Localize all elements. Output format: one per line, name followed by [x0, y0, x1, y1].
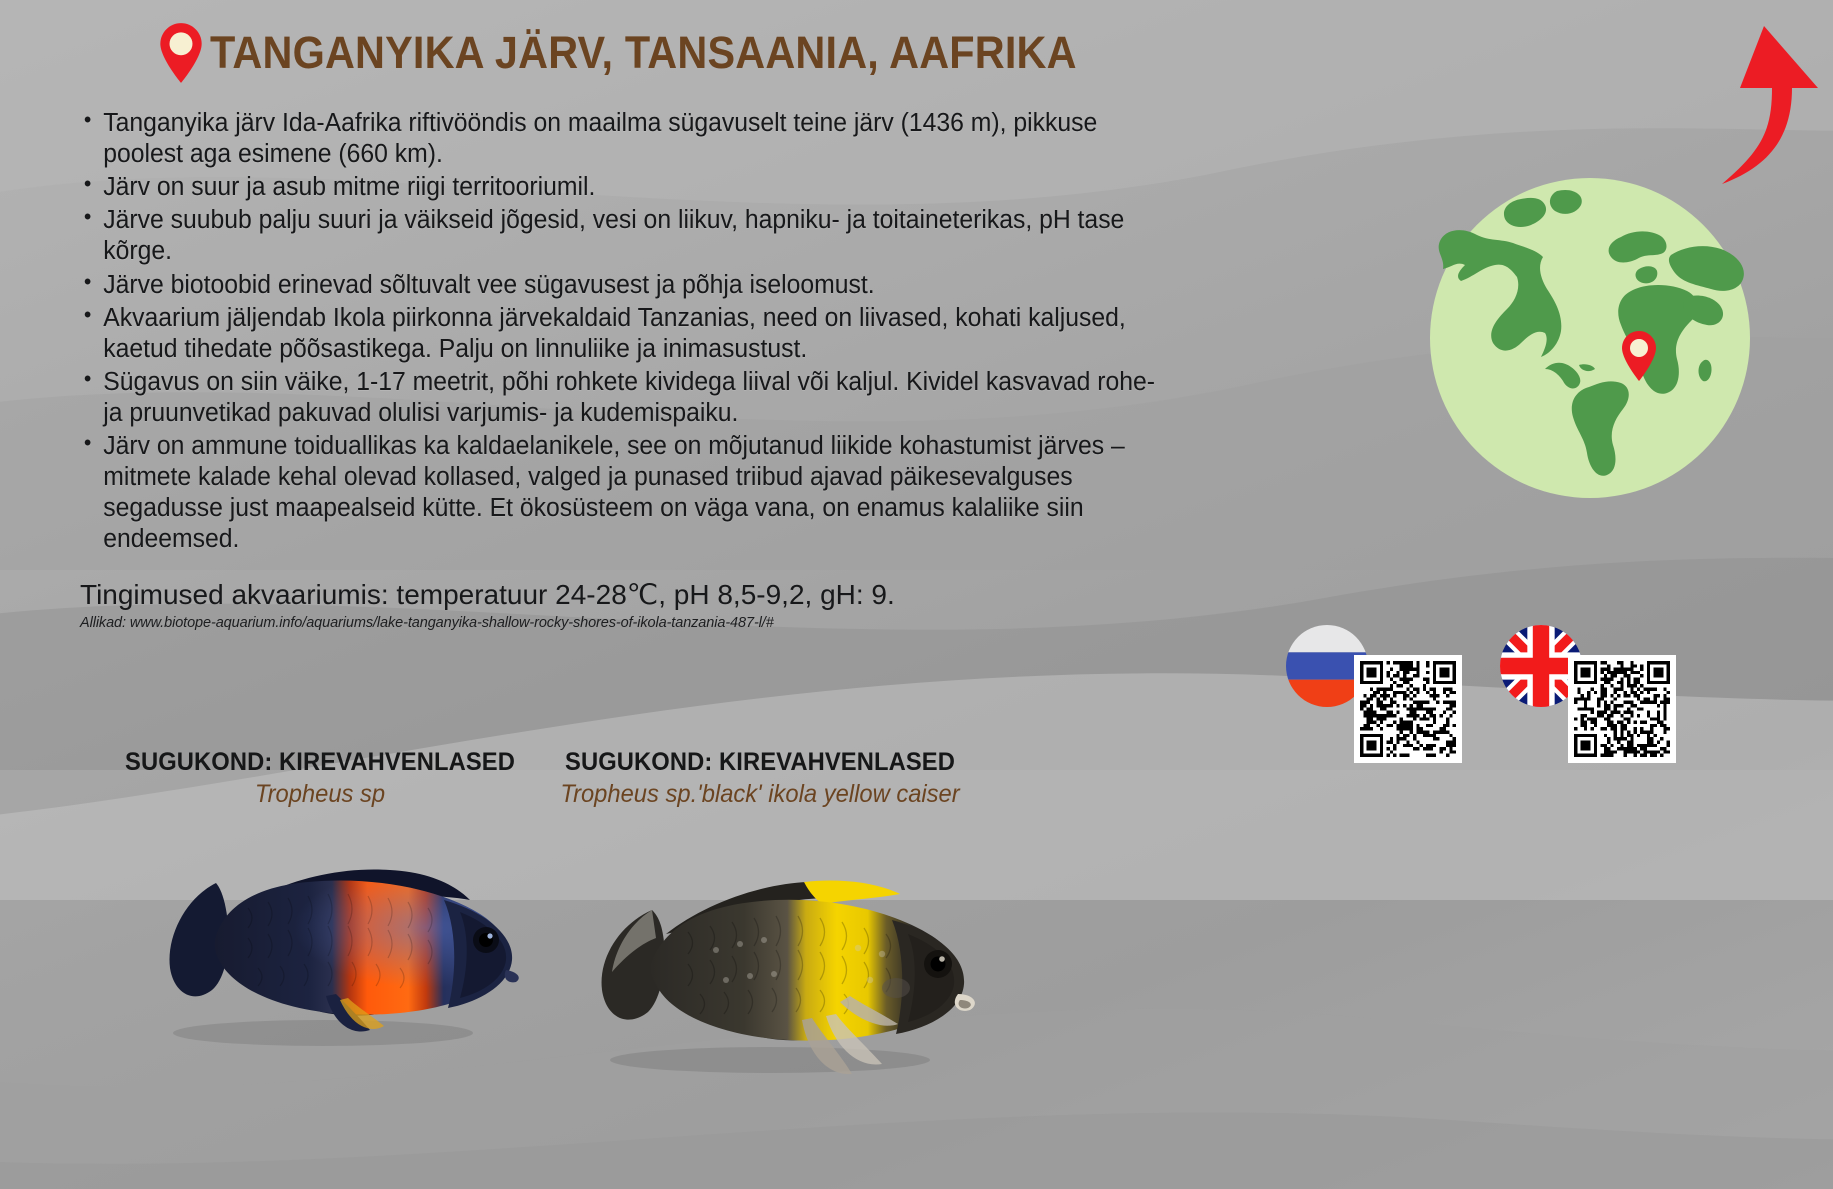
- curved-up-arrow-icon: [1700, 18, 1833, 188]
- map-pin-icon: [158, 22, 204, 84]
- aquarium-conditions: Tingimused akvaariumis: temperatuur 24-2…: [80, 578, 895, 611]
- list-item: Järv on suur ja asub mitme riigi territo…: [78, 172, 1174, 203]
- list-item: Järve biotoobid erinevad sõltuvalt vee s…: [78, 270, 1174, 301]
- globe-icon: [1425, 173, 1755, 503]
- russian-qr-code[interactable]: [1354, 655, 1462, 763]
- list-item: Akvaarium jäljendab Ikola piirkonna järv…: [78, 303, 1174, 365]
- english-qr-code[interactable]: [1568, 655, 1676, 763]
- species-label-2: SUGUKOND: KIREVAHVENLASED Tropheus sp.'b…: [540, 748, 980, 809]
- location-pin-icon: [1620, 330, 1658, 382]
- cichlid-yellow-band-fish: [540, 838, 1000, 1088]
- list-item: Järv on ammune toiduallikas ka kaldaelan…: [78, 431, 1174, 555]
- list-item: Järve suubub palju suuri ja väikseid jõg…: [78, 205, 1174, 267]
- source-citation: Allikad: www.biotope-aquarium.info/aquar…: [80, 615, 774, 631]
- list-item: Sügavus on siin väike, 1-17 meetrit, põh…: [78, 367, 1174, 429]
- facts-list: Tanganyika järv Ida-Aafrika riftivööndis…: [78, 108, 1208, 558]
- species-latin-name: Tropheus sp: [111, 780, 529, 809]
- poster-header: TANGANYIKA JÄRV, TANSAANIA, AAFRIKA: [158, 22, 1152, 84]
- page-title: TANGANYIKA JÄRV, TANSAANIA, AAFRIKA: [210, 27, 1077, 79]
- species-family: SUGUKOND: KIREVAHVENLASED: [551, 748, 969, 777]
- list-item: Tanganyika järv Ida-Aafrika riftivööndis…: [78, 108, 1174, 170]
- species-latin-name: Tropheus sp.'black' ikola yellow caiser: [551, 780, 969, 809]
- species-family: SUGUKOND: KIREVAHVENLASED: [111, 748, 529, 777]
- cichlid-orange-band-fish: [108, 828, 538, 1058]
- poster-root: TANGANYIKA JÄRV, TANSAANIA, AAFRIKA Tang…: [0, 0, 1833, 1189]
- species-label-1: SUGUKOND: KIREVAHVENLASED Tropheus sp: [100, 748, 540, 809]
